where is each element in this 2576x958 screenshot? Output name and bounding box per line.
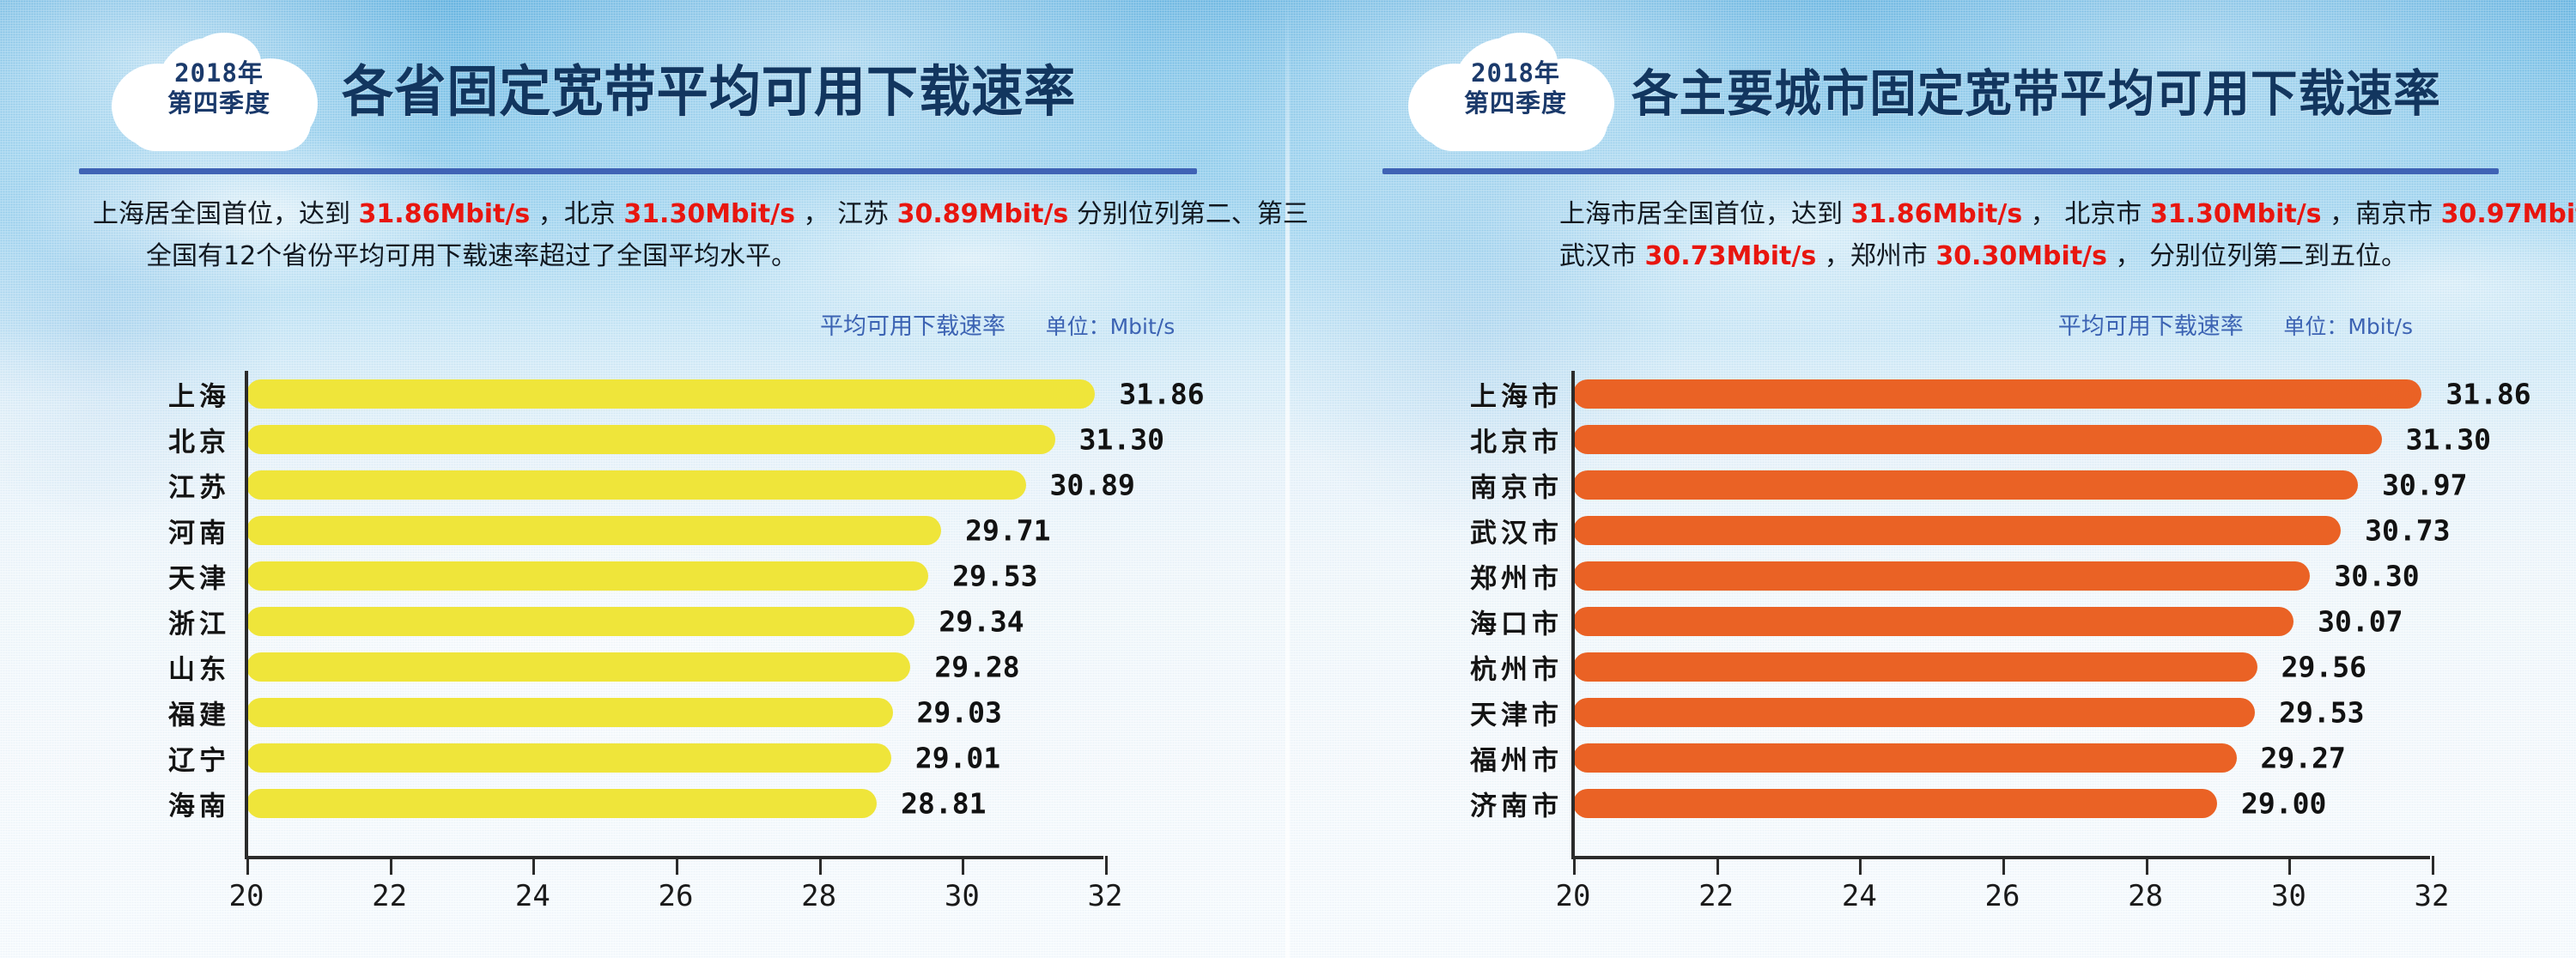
description-line-1: 上海居全国首位，达到 31.86Mbit/s ，北京 31.30Mbit/s ，… — [93, 194, 1226, 236]
title-divider — [1382, 168, 2499, 174]
legend-label: 平均可用下载速率 — [2058, 313, 2244, 340]
bar-value-label: 29.00 — [2241, 786, 2326, 820]
badge-quarter: 第四季度 — [112, 88, 326, 118]
x-tick — [2288, 856, 2291, 875]
bar-row: 北京31.30 — [0, 416, 1254, 462]
panel-provinces: 2018年 第四季度 各省固定宽带平均可用下载速率 上海居全国首位，达到 31.… — [0, 0, 1288, 958]
x-tick — [2146, 856, 2148, 875]
description-provinces: 上海居全国首位，达到 31.86Mbit/s ，北京 31.30Mbit/s ，… — [93, 194, 1226, 277]
infographic-canvas: 2018年 第四季度 各省固定宽带平均可用下载速率 上海居全国首位，达到 31.… — [0, 0, 2576, 958]
x-tick-label: 20 — [1556, 879, 1591, 913]
x-tick — [2432, 856, 2434, 875]
desc-value-2: 31.30Mbit/s — [2150, 199, 2322, 229]
x-tick-label: 24 — [1842, 879, 1877, 913]
bar — [246, 379, 1095, 409]
bar-row: 江苏30.89 — [0, 462, 1254, 507]
bar-row: 福建29.03 — [0, 689, 1254, 735]
page-title-cities: 各主要城市固定宽带平均可用下载速率 — [1631, 53, 2441, 125]
bar-category-label: 江苏 — [168, 465, 230, 504]
x-tick — [1573, 856, 1576, 875]
desc-value-2: 31.30Mbit/s — [623, 199, 795, 229]
bar — [246, 470, 1026, 500]
desc-text: 分别位列第二、第三 — [1077, 199, 1309, 229]
bar — [246, 789, 877, 818]
bar — [246, 607, 914, 636]
x-tick-label: 24 — [515, 879, 550, 913]
bar — [1573, 561, 2310, 591]
bar-category-label: 南京市 — [1470, 465, 1563, 504]
bar-row: 天津市29.53 — [1288, 689, 2542, 735]
y-axis — [245, 371, 248, 856]
desc-text: ， 江苏 — [804, 199, 890, 229]
bar-row: 郑州市30.30 — [1288, 553, 2542, 598]
bar — [246, 698, 893, 727]
bar — [1573, 789, 2217, 818]
bar-category-label: 天津 — [168, 556, 230, 595]
bar-row: 河南29.71 — [0, 507, 1254, 553]
bar-value-label: 31.86 — [2445, 377, 2530, 410]
panel-cities: 2018年 第四季度 各主要城市固定宽带平均可用下载速率 上海市居全国首位，达到… — [1288, 0, 2576, 958]
legend-unit: 单位：Mbit/s — [1046, 314, 1176, 339]
badge-quarter: 第四季度 — [1408, 88, 1623, 118]
badge-year: 2018年 — [112, 58, 326, 88]
x-tick-label: 32 — [2415, 879, 2450, 913]
bar-category-label: 杭州市 — [1470, 647, 1563, 686]
x-tick — [2002, 856, 2005, 875]
bar-category-label: 山东 — [168, 647, 230, 686]
x-tick-label: 28 — [801, 879, 836, 913]
description-line-2: 武汉市 30.73Mbit/s ，郑州市 30.30Mbit/s ， 分别位列第… — [1559, 236, 2564, 278]
bar-row: 上海31.86 — [0, 371, 1254, 416]
bar-value-label: 29.28 — [934, 650, 1019, 683]
bar-rows: 上海市31.86北京市31.30南京市30.97武汉市30.73郑州市30.30… — [1288, 371, 2542, 826]
bar-category-label: 浙江 — [168, 602, 230, 640]
x-tick-label: 30 — [945, 879, 980, 913]
x-tick-label: 32 — [1088, 879, 1123, 913]
bar-row: 杭州市29.56 — [1288, 644, 2542, 689]
x-tick-label: 30 — [2271, 879, 2306, 913]
bar — [1573, 379, 2421, 409]
bar-value-label: 29.03 — [917, 695, 1002, 729]
desc-text: 上海市居全国首位，达到 — [1559, 199, 1843, 229]
desc-value-3: 30.97Mbit/s — [2441, 199, 2576, 229]
desc-text: ，郑州市 — [1825, 241, 1928, 271]
desc-value-4: 30.73Mbit/s — [1645, 241, 1817, 271]
badge-period: 2018年 第四季度 — [112, 58, 326, 119]
x-tick — [962, 856, 964, 875]
bar-category-label: 福州市 — [1470, 738, 1563, 777]
bar-category-label: 北京市 — [1470, 420, 1563, 458]
bar-row: 南京市30.97 — [1288, 462, 2542, 507]
x-tick — [676, 856, 678, 875]
bar — [246, 516, 941, 545]
bar — [1573, 516, 2341, 545]
bar — [246, 652, 910, 682]
bar-value-label: 30.30 — [2334, 559, 2419, 592]
bar-row: 辽宁29.01 — [0, 735, 1254, 780]
bar-category-label: 上海 — [168, 374, 230, 413]
bar — [1573, 743, 2237, 773]
bar-row: 福州市29.27 — [1288, 735, 2542, 780]
x-tick — [819, 856, 822, 875]
bar-value-label: 29.53 — [2279, 695, 2364, 729]
bar-value-label: 29.56 — [2281, 650, 2366, 683]
bar-row: 海南28.81 — [0, 780, 1254, 826]
cloud-badge-icon: 2018年 第四季度 — [112, 33, 326, 149]
bar-rows: 上海31.86北京31.30江苏30.89河南29.71天津29.53浙江29.… — [0, 371, 1254, 826]
badge-year: 2018年 — [1408, 58, 1623, 88]
x-tick — [1716, 856, 1719, 875]
bar-row: 北京市31.30 — [1288, 416, 2542, 462]
desc-text: 上海居全国首位，达到 — [93, 199, 350, 229]
desc-text: 武汉市 — [1559, 241, 1637, 271]
bar-value-label: 30.73 — [2365, 513, 2450, 547]
bar-category-label: 郑州市 — [1470, 556, 1563, 595]
bar-value-label: 28.81 — [901, 786, 986, 820]
bar-category-label: 济南市 — [1470, 784, 1563, 822]
description-line-1: 上海市居全国首位，达到 31.86Mbit/s ， 北京市 31.30Mbit/… — [1559, 194, 2564, 236]
bar-category-label: 辽宁 — [168, 738, 230, 777]
bar — [1573, 698, 2255, 727]
desc-value-3: 30.89Mbit/s — [897, 199, 1069, 229]
title-divider — [79, 168, 1197, 174]
bar — [246, 425, 1055, 454]
x-tick — [1859, 856, 1862, 875]
x-tick — [532, 856, 535, 875]
bar-value-label: 31.30 — [1079, 422, 1164, 456]
desc-value-5: 30.30Mbit/s — [1935, 241, 2107, 271]
bar — [1573, 607, 2293, 636]
bar — [1573, 470, 2358, 500]
header-left: 2018年 第四季度 各省固定宽带平均可用下载速率 — [0, 17, 1288, 146]
x-tick-label: 22 — [1698, 879, 1734, 913]
bar-category-label: 河南 — [168, 511, 230, 549]
bar-category-label: 武汉市 — [1470, 511, 1563, 549]
bar-row: 武汉市30.73 — [1288, 507, 2542, 553]
bar-row: 济南市29.00 — [1288, 780, 2542, 826]
legend-cities: 平均可用下载速率 单位：Mbit/s — [2058, 307, 2413, 341]
bar-value-label: 29.27 — [2261, 741, 2346, 774]
desc-value-1: 31.86Mbit/s — [359, 199, 531, 229]
bar — [246, 561, 928, 591]
description-cities: 上海市居全国首位，达到 31.86Mbit/s ， 北京市 31.30Mbit/… — [1559, 194, 2564, 277]
description-line-2: 全国有12个省份平均可用下载速率超过了全国平均水平。 — [93, 236, 1226, 278]
bar-value-label: 29.53 — [952, 559, 1037, 592]
bar — [246, 743, 891, 773]
x-axis — [1571, 856, 2430, 859]
bar-value-label: 30.07 — [2318, 604, 2403, 638]
bar-category-label: 天津市 — [1470, 693, 1563, 731]
bar-value-label: 31.86 — [1119, 377, 1204, 410]
x-tick — [1105, 856, 1108, 875]
bar-category-label: 海南 — [168, 784, 230, 822]
bar-row: 海口市30.07 — [1288, 598, 2542, 644]
desc-text: ，南京市 — [2330, 199, 2433, 229]
bar-value-label: 31.30 — [2406, 422, 2491, 456]
x-tick-label: 26 — [659, 879, 694, 913]
chart-provinces: 上海31.86北京31.30江苏30.89河南29.71天津29.53浙江29.… — [0, 371, 1254, 903]
y-axis — [1571, 371, 1575, 856]
bar-value-label: 29.01 — [915, 741, 1000, 774]
desc-value-1: 31.86Mbit/s — [1851, 199, 2023, 229]
bar-category-label: 海口市 — [1470, 602, 1563, 640]
desc-text: ， 分别位列第二到五位。 — [2116, 241, 2408, 271]
desc-text: ， 北京市 — [2031, 199, 2142, 229]
x-tick — [390, 856, 392, 875]
cloud-badge-icon: 2018年 第四季度 — [1408, 33, 1623, 149]
bar — [1573, 652, 2257, 682]
bar-category-label: 北京 — [168, 420, 230, 458]
bar — [1573, 425, 2382, 454]
x-tick — [246, 856, 249, 875]
bar-value-label: 29.71 — [965, 513, 1050, 547]
x-tick-label: 26 — [1985, 879, 2020, 913]
bar-row: 上海市31.86 — [1288, 371, 2542, 416]
bar-category-label: 上海市 — [1470, 374, 1563, 413]
chart-cities: 上海市31.86北京市31.30南京市30.97武汉市30.73郑州市30.30… — [1288, 371, 2542, 903]
bar-row: 山东29.28 — [0, 644, 1254, 689]
legend-provinces: 平均可用下载速率 单位：Mbit/s — [820, 307, 1175, 341]
bar-row: 浙江29.34 — [0, 598, 1254, 644]
badge-period: 2018年 第四季度 — [1408, 58, 1623, 119]
legend-label: 平均可用下载速率 — [820, 313, 1005, 340]
bar-row: 天津29.53 — [0, 553, 1254, 598]
bar-value-label: 30.97 — [2382, 468, 2467, 501]
bar-category-label: 福建 — [168, 693, 230, 731]
x-tick-label: 20 — [229, 879, 264, 913]
x-tick-label: 28 — [2128, 879, 2163, 913]
legend-unit: 单位：Mbit/s — [2283, 314, 2413, 339]
page-title-provinces: 各省固定宽带平均可用下载速率 — [342, 48, 1076, 127]
header-right: 2018年 第四季度 各主要城市固定宽带平均可用下载速率 — [1288, 17, 2576, 146]
bar-value-label: 29.34 — [939, 604, 1024, 638]
bar-value-label: 30.89 — [1050, 468, 1135, 501]
x-tick-label: 22 — [372, 879, 407, 913]
desc-text: ，北京 — [538, 199, 616, 229]
x-axis — [245, 856, 1103, 859]
